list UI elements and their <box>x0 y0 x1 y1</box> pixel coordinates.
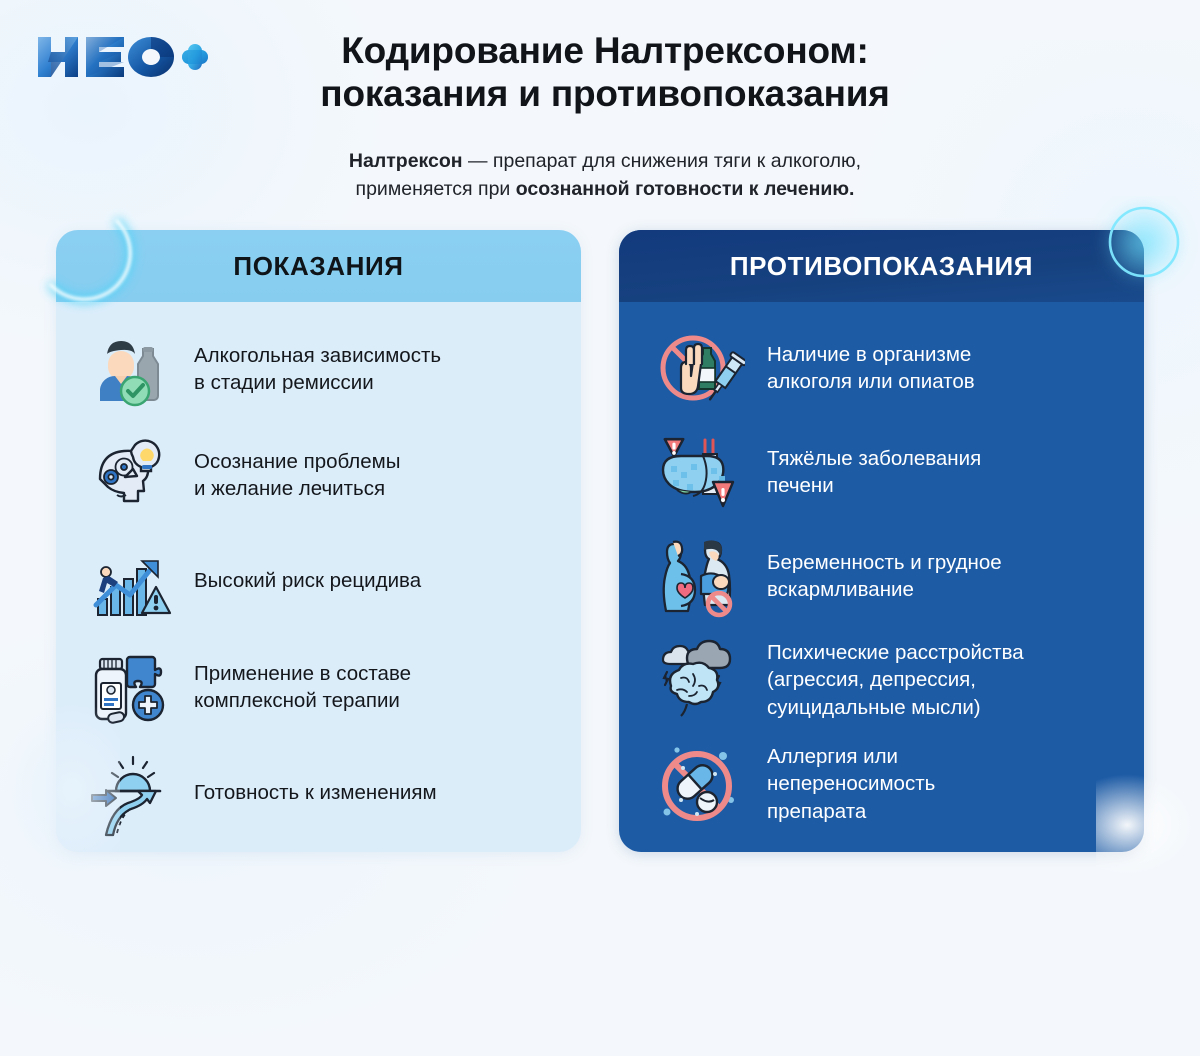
list-item-line-1: Алкогольная зависимость <box>194 344 441 367</box>
list-item-text: Беременность и грудное вскармливание <box>767 549 1002 604</box>
page-subtitle: Налтрексон — препарат для снижения тяги … <box>230 148 980 203</box>
list-item: Тяжёлые заболевания печени <box>619 420 1144 524</box>
list-item-text: Аллергия или непереносимость препарата <box>767 743 935 825</box>
subtitle-strong-drug: Налтрексон <box>349 150 463 172</box>
brain-storm-cloud-icon <box>653 634 745 726</box>
list-item: Наличие в организме алкоголя или опиатов <box>619 316 1144 420</box>
indications-header: ПОКАЗАНИЯ <box>56 230 581 302</box>
list-item: Готовность к изменениям <box>56 740 581 846</box>
list-item: Аллергия или непереносимость препарата <box>619 732 1144 836</box>
list-item-line-3: препарата <box>767 800 866 823</box>
list-item-line-1: Наличие в организме <box>767 343 971 366</box>
pill-bottle-puzzle-plus-icon <box>86 641 178 733</box>
contraindications-heading: ПРОТИВОПОКАЗАНИЯ <box>730 251 1033 282</box>
list-item-text: Высокий риск рецидива <box>194 567 421 594</box>
list-item: Высокий риск рецидива <box>56 528 581 634</box>
list-item-line-2: комплексной терапии <box>194 689 400 712</box>
list-item-line-2: (агрессия, депрессия, <box>767 668 976 691</box>
no-alcohol-syringe-icon <box>653 322 745 414</box>
list-item: Алкогольная зависимость в стадии ремисси… <box>56 316 581 422</box>
subtitle-strong-readiness: осознанной готовности к лечению. <box>516 178 855 200</box>
page-title: Кодирование Налтрексоном: показания и пр… <box>210 30 1000 116</box>
no-pills-allergy-icon <box>653 738 745 830</box>
page-title-line-1: Кодирование Налтрексоном: <box>210 30 1000 73</box>
subtitle-rest-2: применяется при <box>356 178 516 200</box>
liver-warning-icon <box>653 426 745 518</box>
list-item-text: Осознание проблемы и желание лечиться <box>194 448 401 503</box>
list-item: Применение в составе комплексной терапии <box>56 634 581 740</box>
list-item-text: Готовность к изменениям <box>194 779 437 806</box>
list-item-text: Применение в составе комплексной терапии <box>194 660 411 715</box>
list-item: Психические расстройства (агрессия, депр… <box>619 628 1144 732</box>
list-item-line-2: и желание лечиться <box>194 477 385 500</box>
list-item-line-2: в стадии ремиссии <box>194 371 374 394</box>
indications-list: Алкогольная зависимость в стадии ремисси… <box>56 302 581 846</box>
list-item-line-1: Беременность и грудное <box>767 551 1002 574</box>
list-item-line-1: Применение в составе <box>194 662 411 685</box>
subtitle-rest-1: — препарат для снижения тяги к алкоголю, <box>463 150 861 172</box>
person-bottle-check-icon <box>86 323 178 415</box>
page-title-line-2: показания и противопоказания <box>210 73 1000 116</box>
list-item-text: Алкогольная зависимость в стадии ремисси… <box>194 342 441 397</box>
list-item-line-3: суицидальные мысли) <box>767 696 981 719</box>
page-header: Кодирование Налтрексоном: показания и пр… <box>0 0 1200 212</box>
list-item-text: Наличие в организме алкоголя или опиатов <box>767 341 975 396</box>
indications-card: ПОКАЗАНИЯ Алкогольная зависимость в стад <box>56 230 581 852</box>
list-item: Беременность и грудное вскармливание <box>619 524 1144 628</box>
list-item-line-1: Аллергия или <box>767 745 898 768</box>
list-item-line-2: алкоголя или опиатов <box>767 370 975 393</box>
indications-heading: ПОКАЗАНИЯ <box>233 251 403 282</box>
contraindications-list: Наличие в организме алкоголя или опиатов <box>619 302 1144 836</box>
contraindications-card: ПРОТИВОПОКАЗАНИЯ <box>619 230 1144 852</box>
list-item-line-2: печени <box>767 474 834 497</box>
list-item-line-1: Психические расстройства <box>767 641 1024 664</box>
sunrise-road-arrow-icon <box>86 747 178 839</box>
contraindications-header: ПРОТИВОПОКАЗАНИЯ <box>619 230 1144 302</box>
list-item-line-1: Высокий риск рецидива <box>194 569 421 592</box>
list-item: Осознание проблемы и желание лечиться <box>56 422 581 528</box>
list-item-line-1: Тяжёлые заболевания <box>767 447 981 470</box>
brand-logo <box>34 31 210 83</box>
head-gears-lightbulb-icon <box>86 429 178 521</box>
list-item-text: Психические расстройства (агрессия, депр… <box>767 639 1024 721</box>
list-item-text: Тяжёлые заболевания печени <box>767 445 981 500</box>
list-item-line-2: вскармливание <box>767 578 914 601</box>
page-subtitle-line-1: Налтрексон — препарат для снижения тяги … <box>230 148 980 176</box>
growth-chart-warning-icon <box>86 535 178 627</box>
logo-neo-plus-icon <box>34 31 210 83</box>
list-item-line-1: Осознание проблемы <box>194 450 401 473</box>
list-item-line-1: Готовность к изменениям <box>194 781 437 804</box>
pregnancy-breastfeeding-icon <box>653 530 745 622</box>
list-item-line-2: непереносимость <box>767 772 935 795</box>
page-subtitle-line-2: применяется при осознанной готовности к … <box>230 176 980 204</box>
